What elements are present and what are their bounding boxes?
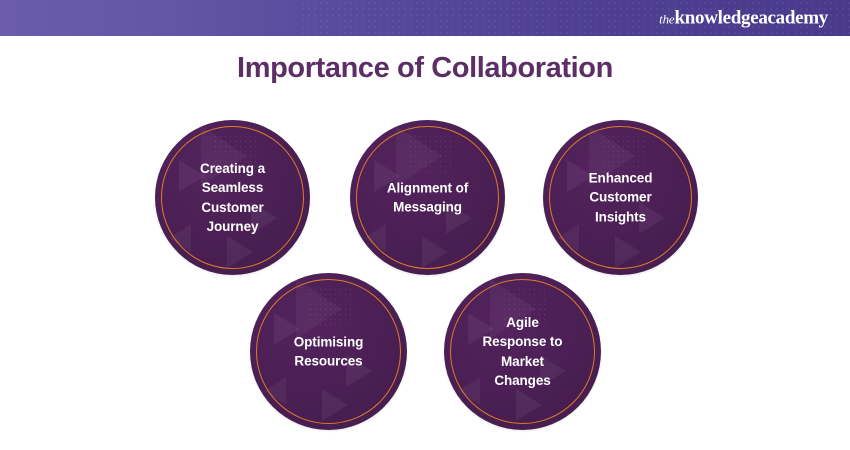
diagram-node-label: Optimising Resources	[250, 332, 407, 371]
diagram-node-label: Agile Response to Market Changes	[444, 312, 601, 390]
triangle-decor-icon	[322, 389, 348, 421]
diagram-node-label: Creating a Seamless Customer Journey	[155, 158, 310, 236]
collaboration-diagram: Creating a Seamless Customer Journey Ali…	[0, 0, 850, 450]
dot-pattern-decor	[408, 134, 454, 174]
diagram-node-label: Enhanced Customer Insights	[543, 168, 698, 227]
triangle-decor-icon	[264, 377, 286, 405]
diagram-node-agile-response-to-market-changes[interactable]: Agile Response to Market Changes	[444, 273, 601, 430]
triangle-decor-icon	[516, 389, 542, 421]
triangle-decor-icon	[422, 236, 448, 268]
triangle-decor-icon	[364, 224, 386, 252]
diagram-node-creating-a-seamless-customer-journey[interactable]: Creating a Seamless Customer Journey	[155, 120, 310, 275]
diagram-node-alignment-of-messaging[interactable]: Alignment of Messaging	[350, 120, 505, 275]
triangle-decor-icon	[227, 236, 253, 268]
dot-pattern-decor	[308, 287, 354, 327]
diagram-node-enhanced-customer-insights[interactable]: Enhanced Customer Insights	[543, 120, 698, 275]
diagram-node-optimising-resources[interactable]: Optimising Resources	[250, 273, 407, 430]
diagram-node-label: Alignment of Messaging	[350, 178, 505, 217]
triangle-decor-icon	[615, 236, 641, 268]
triangle-decor-icon	[296, 279, 342, 339]
triangle-decor-icon	[557, 224, 579, 252]
